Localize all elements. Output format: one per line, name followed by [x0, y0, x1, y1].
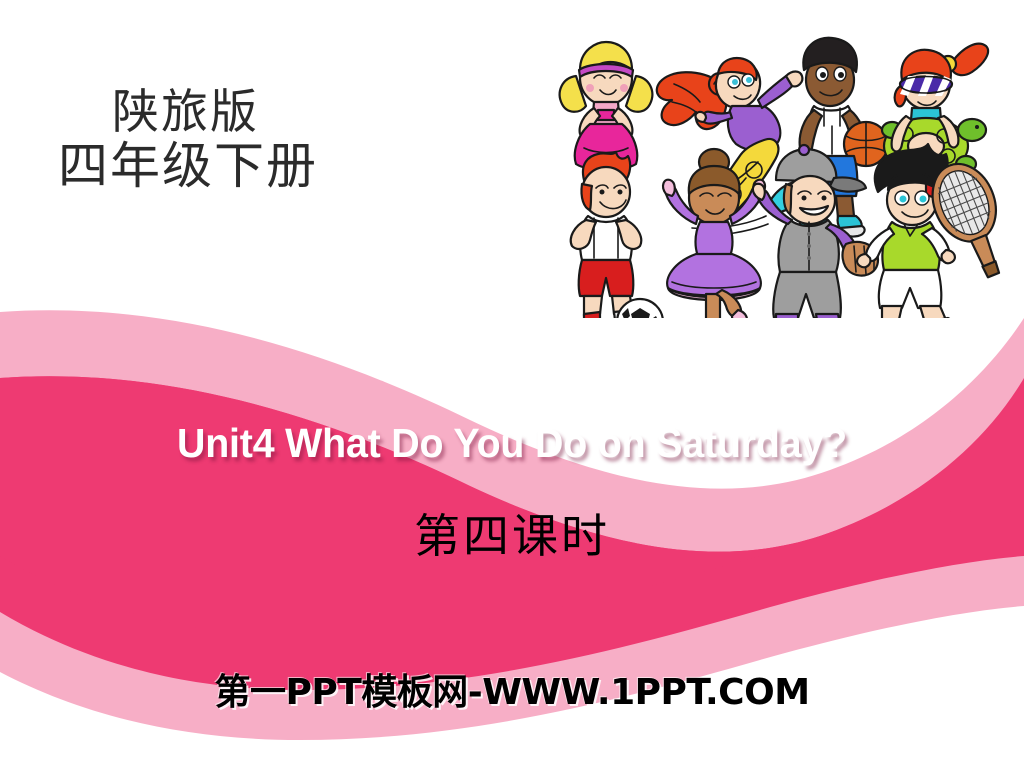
lesson-period-subtitle: 第四课时: [0, 500, 1024, 566]
site-watermark: 第一PPT模板网-WWW.1PPT.COM: [0, 663, 1024, 715]
publisher-block: 陕旅版 四年级下册: [52, 88, 318, 193]
kids-sports-illustration: .ol { stroke:#1a1a1a; stroke-width:2.2; …: [548, 22, 1016, 318]
character-boy-soccer: [571, 152, 663, 318]
grade-volume: 四年级下册: [52, 139, 318, 193]
slide-canvas: 陕旅版 四年级下册 .ol { stroke:#1a1a1a; stroke-w…: [0, 0, 1024, 768]
character-boy-tennis: [857, 144, 1016, 318]
page-title: Unit4 What Do You Do on Saturday?: [20, 420, 1003, 467]
publisher-name: 陕旅版: [52, 88, 318, 139]
